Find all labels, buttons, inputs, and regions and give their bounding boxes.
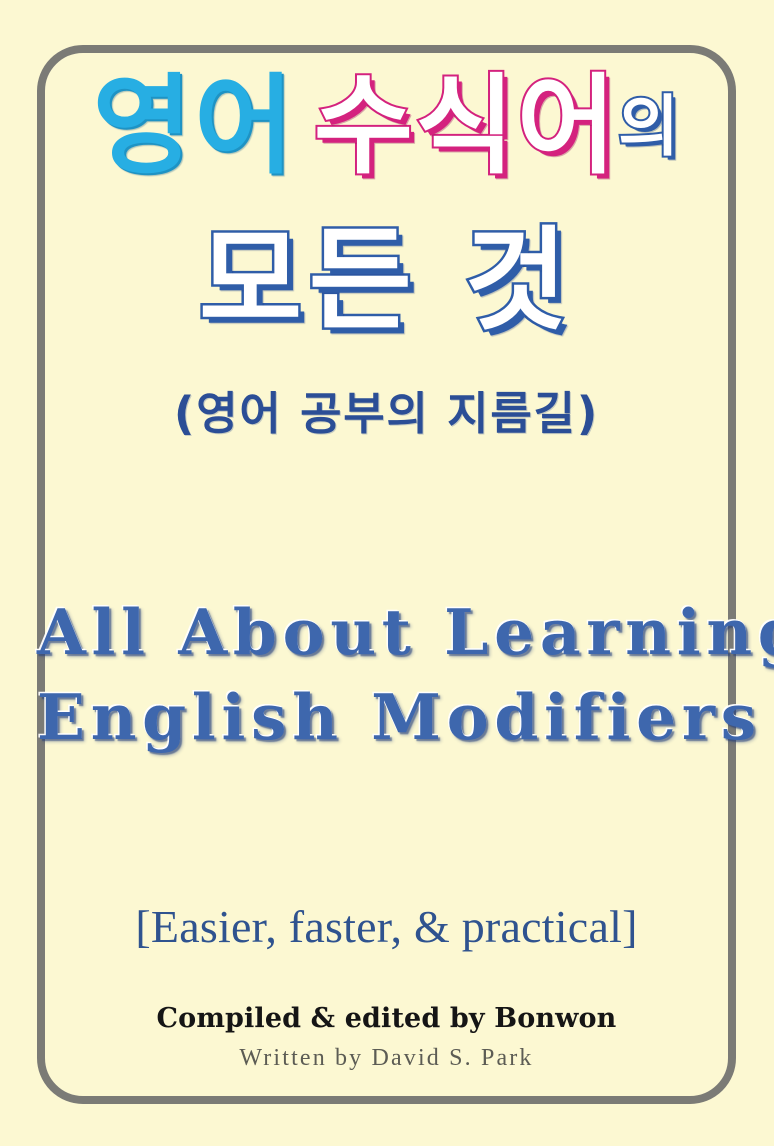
english-title-line-1: All About Learning	[37, 595, 736, 669]
korean-title-particle-ui: 의	[618, 88, 680, 165]
korean-title-word-everything: 모든 것	[199, 216, 574, 346]
korean-title-line-2: 모든 것	[37, 225, 736, 337]
cover-content: 영어수식어의 모든 것 (영어 공부의 지름길) All About Learn…	[37, 45, 736, 1104]
korean-title-word-english: 영어	[93, 64, 296, 189]
english-title-line-2: English Modifiers	[37, 680, 736, 754]
english-title-line-1-text: All About Learning	[37, 595, 774, 669]
english-title-line-2-text: English Modifiers	[37, 680, 762, 754]
korean-title-line-1: 영어수식어의	[37, 73, 736, 181]
credit-compiled-by: Compiled & edited by Bonwon	[37, 1003, 736, 1034]
credit-written-by: Written by David S. Park	[37, 1045, 736, 1072]
korean-title-word-modifier: 수식어	[314, 64, 619, 189]
cover-tagline: [Easier, faster, & practical]	[37, 900, 736, 953]
book-cover: 영어수식어의 모든 것 (영어 공부의 지름길) All About Learn…	[0, 0, 774, 1146]
korean-subtitle: (영어 공부의 지름길)	[37, 377, 736, 442]
